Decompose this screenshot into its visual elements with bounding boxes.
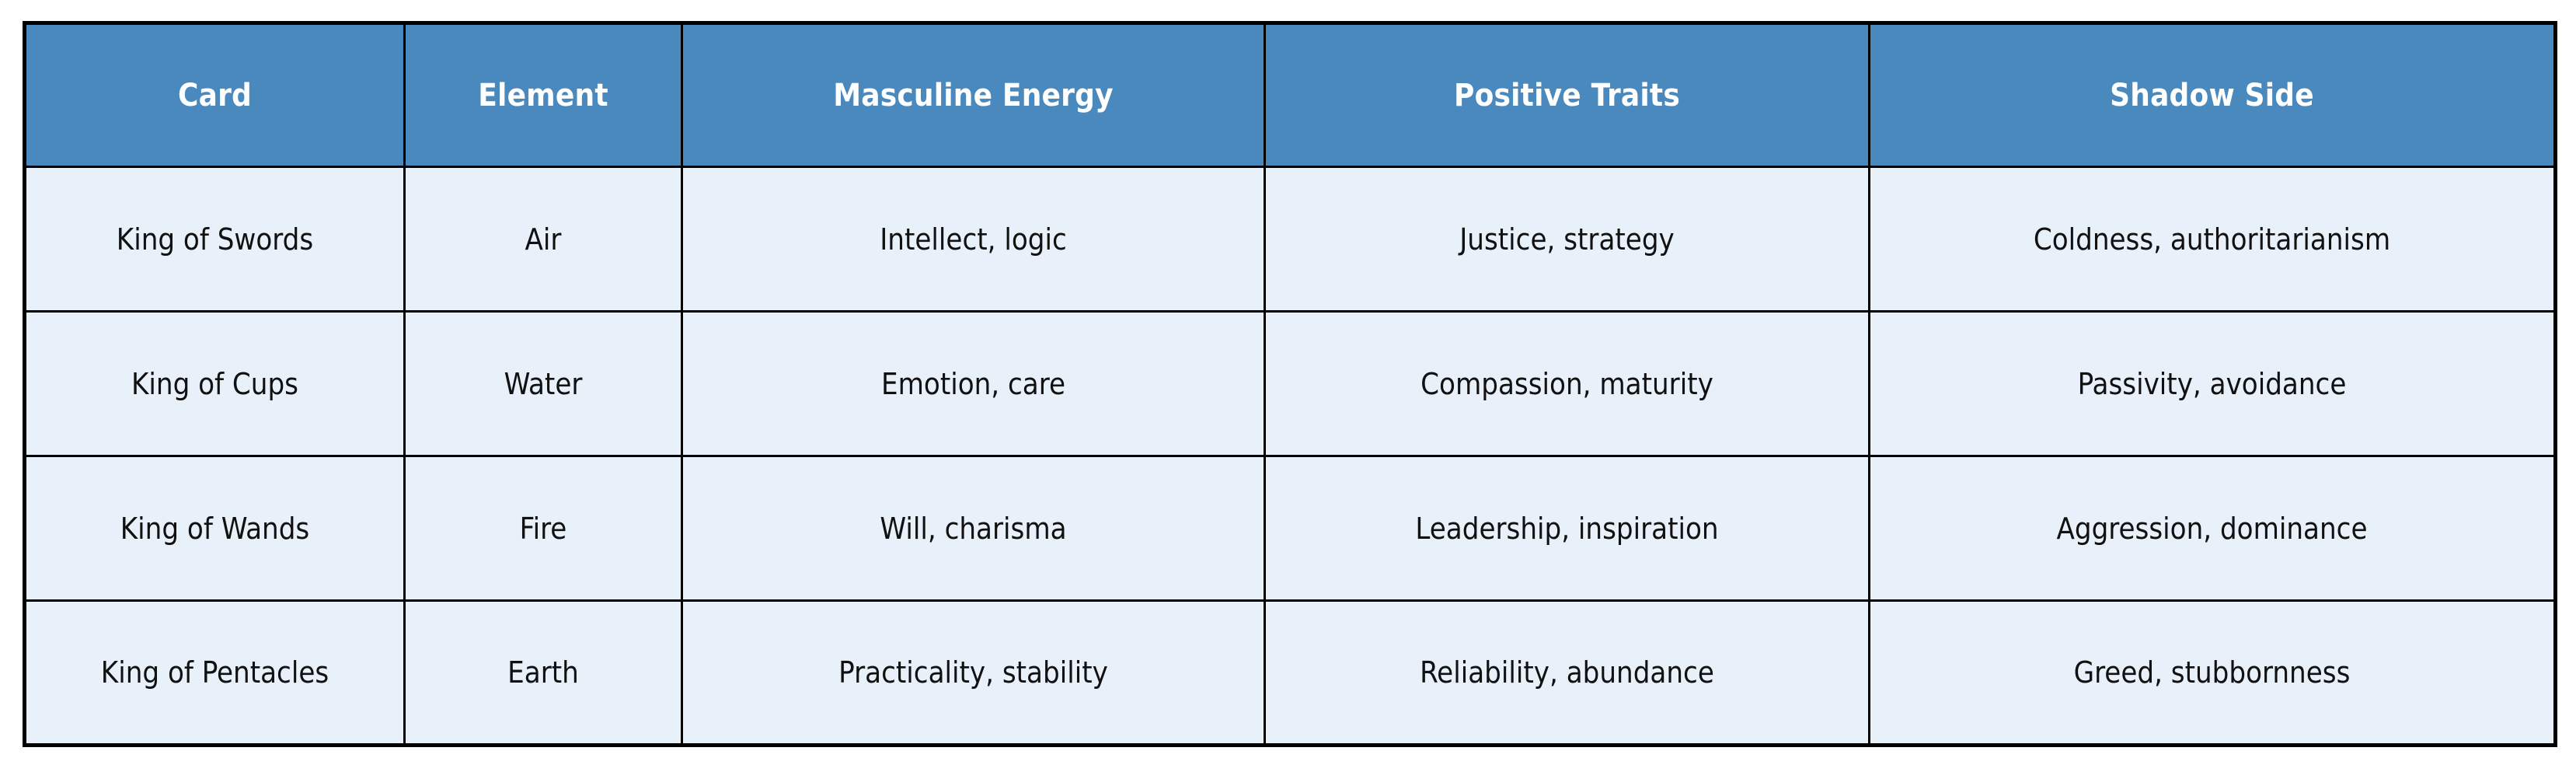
cell-positive-traits: Justice, strategy	[1265, 167, 1870, 312]
comparison-table: Card Element Masculine Energy Positive T…	[23, 21, 2557, 747]
table-header: Card Element Masculine Energy Positive T…	[25, 23, 2556, 167]
header-row: Card Element Masculine Energy Positive T…	[25, 23, 2556, 167]
table-row: King of Cups Water Emotion, care Compass…	[25, 312, 2556, 456]
cell-masculine-energy: Intellect, logic	[682, 167, 1265, 312]
cell-shadow-side: Coldness, authoritarianism	[1870, 167, 2556, 312]
cell-card: King of Pentacles	[25, 601, 405, 746]
cell-card: King of Wands	[25, 456, 405, 601]
cell-masculine-energy: Practicality, stability	[682, 601, 1265, 746]
cell-shadow-side: Greed, stubbornness	[1870, 601, 2556, 746]
table-row: King of Wands Fire Will, charisma Leader…	[25, 456, 2556, 601]
cell-positive-traits: Compassion, maturity	[1265, 312, 1870, 456]
table-row: King of Pentacles Earth Practicality, st…	[25, 601, 2556, 746]
page-root: Card Element Masculine Energy Positive T…	[0, 0, 2576, 765]
cell-masculine-energy: Emotion, care	[682, 312, 1265, 456]
cell-element: Water	[405, 312, 682, 456]
column-header-element: Element	[405, 23, 682, 167]
cell-positive-traits: Reliability, abundance	[1265, 601, 1870, 746]
cell-element: Earth	[405, 601, 682, 746]
cell-card: King of Swords	[25, 167, 405, 312]
column-header-masculine-energy: Masculine Energy	[682, 23, 1265, 167]
column-header-shadow-side: Shadow Side	[1870, 23, 2556, 167]
cell-shadow-side: Passivity, avoidance	[1870, 312, 2556, 456]
cell-card: King of Cups	[25, 312, 405, 456]
table-body: King of Swords Air Intellect, logic Just…	[25, 167, 2556, 746]
cell-element: Air	[405, 167, 682, 312]
cell-element: Fire	[405, 456, 682, 601]
cell-shadow-side: Aggression, dominance	[1870, 456, 2556, 601]
table-container: Card Element Masculine Energy Positive T…	[23, 21, 2553, 744]
cell-positive-traits: Leadership, inspiration	[1265, 456, 1870, 601]
table-row: King of Swords Air Intellect, logic Just…	[25, 167, 2556, 312]
cell-masculine-energy: Will, charisma	[682, 456, 1265, 601]
column-header-positive-traits: Positive Traits	[1265, 23, 1870, 167]
column-header-card: Card	[25, 23, 405, 167]
